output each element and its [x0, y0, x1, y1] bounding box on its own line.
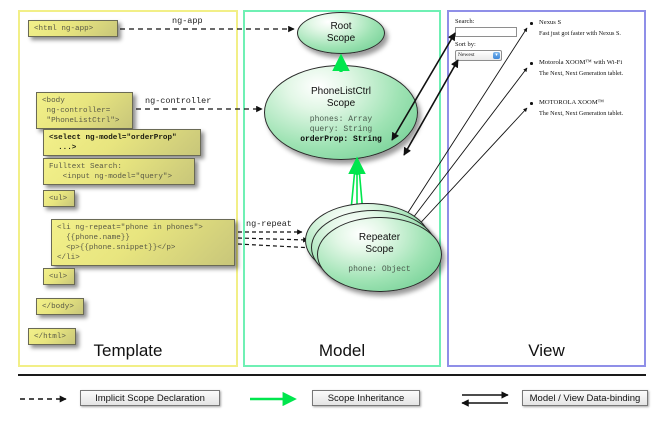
list-item: Motorola XOOM™ with Wi-Fi The Next, Next…	[530, 59, 650, 83]
legend-item-scope-inheritance: Scope Inheritance	[248, 388, 428, 410]
code-box-body-close: </body>	[36, 298, 84, 315]
legend-label-implicit-scope-declaration: Implicit Scope Declaration	[80, 390, 220, 406]
sort-by-selected-value: Newest	[458, 52, 475, 58]
legend-item-implicit-scope-declaration: Implicit Scope Declaration	[18, 388, 228, 410]
scope-repeater: Repeater Scope phone: Object	[317, 217, 442, 292]
code-box-ul-close: <ul>	[43, 268, 75, 285]
list-item: MOTOROLA XOOM™ The Next, Next Generation…	[530, 99, 650, 123]
edge-label-ng-controller: ng-controller	[145, 96, 211, 106]
panel-model: Model	[243, 10, 441, 367]
phone-snippet: The Next, Next Generation tablet.	[539, 70, 623, 77]
scope-controller-title-line2: Scope	[265, 98, 417, 110]
phone-name: Nexus S	[539, 19, 561, 26]
scope-root-title-line2: Scope	[298, 33, 384, 45]
chevron-updown-icon: ▾	[493, 52, 500, 59]
code-box-fulltext-search: Fulltext Search: <input ng-model="query"…	[43, 158, 195, 185]
bullet-icon	[530, 22, 533, 25]
legend-divider	[18, 374, 646, 376]
scope-repeater-prop-phone: phone: Object	[318, 265, 441, 275]
legend: Implicit Scope Declaration Scope Inherit…	[18, 374, 646, 420]
code-box-select: <select ng-model="orderProp" ...>	[43, 129, 201, 156]
scope-controller-prop-phones: phones: Array	[265, 115, 417, 125]
scope-controller-prop-query: query: String	[265, 125, 417, 135]
sort-by-label: Sort by:	[455, 41, 476, 48]
legend-label-scope-inheritance: Scope Inheritance	[312, 390, 420, 406]
panel-title-view: View	[449, 341, 644, 361]
code-box-body-open: <body ng-controller= "PhoneListCtrl">	[36, 92, 133, 129]
legend-label-model-view-data-binding: Model / View Data-binding	[522, 390, 648, 406]
code-box-li-ng-repeat: <li ng-repeat="phone in phones"> {{phone…	[51, 219, 235, 266]
panel-title-model: Model	[245, 341, 439, 361]
scope-controller-prop-orderprop: orderProp: String	[265, 135, 417, 145]
scope-phonelistctrl: PhoneListCtrl Scope phones: Array query:…	[264, 65, 418, 160]
sort-by-select[interactable]: Newest ▾	[455, 50, 502, 61]
scope-repeater-title-line1: Repeater	[318, 232, 441, 244]
legend-double-arrow-icon	[460, 388, 522, 410]
search-label: Search:	[455, 18, 475, 25]
legend-dashed-arrow-icon	[18, 388, 78, 410]
bullet-icon	[530, 62, 533, 65]
scope-repeater-title-line2: Scope	[318, 244, 441, 256]
angularjs-scope-diagram: Template Model View <html ng-app> <body …	[0, 0, 661, 425]
scope-controller-title-line1: PhoneListCtrl	[265, 86, 417, 98]
scope-root-title-line1: Root	[298, 21, 384, 33]
phone-snippet: The Next, Next Generation tablet.	[539, 110, 623, 117]
bullet-icon	[530, 102, 533, 105]
phone-name: MOTOROLA XOOM™	[539, 99, 604, 106]
code-box-html-close: </html>	[28, 328, 76, 345]
list-item: Nexus S Fast just got faster with Nexus …	[530, 19, 650, 43]
legend-item-model-view-data-binding: Model / View Data-binding	[460, 388, 650, 410]
legend-green-arrow-icon	[248, 388, 310, 410]
edge-label-ng-repeat: ng-repeat	[246, 219, 292, 229]
phone-snippet: Fast just got faster with Nexus S.	[539, 30, 621, 37]
scope-root: Root Scope	[297, 12, 385, 54]
code-box-html-open: <html ng-app>	[28, 20, 118, 37]
search-input[interactable]	[455, 27, 517, 37]
phone-name: Motorola XOOM™ with Wi-Fi	[539, 59, 622, 66]
edge-label-ng-app: ng-app	[172, 16, 203, 26]
code-box-ul-open: <ul>	[43, 190, 75, 207]
